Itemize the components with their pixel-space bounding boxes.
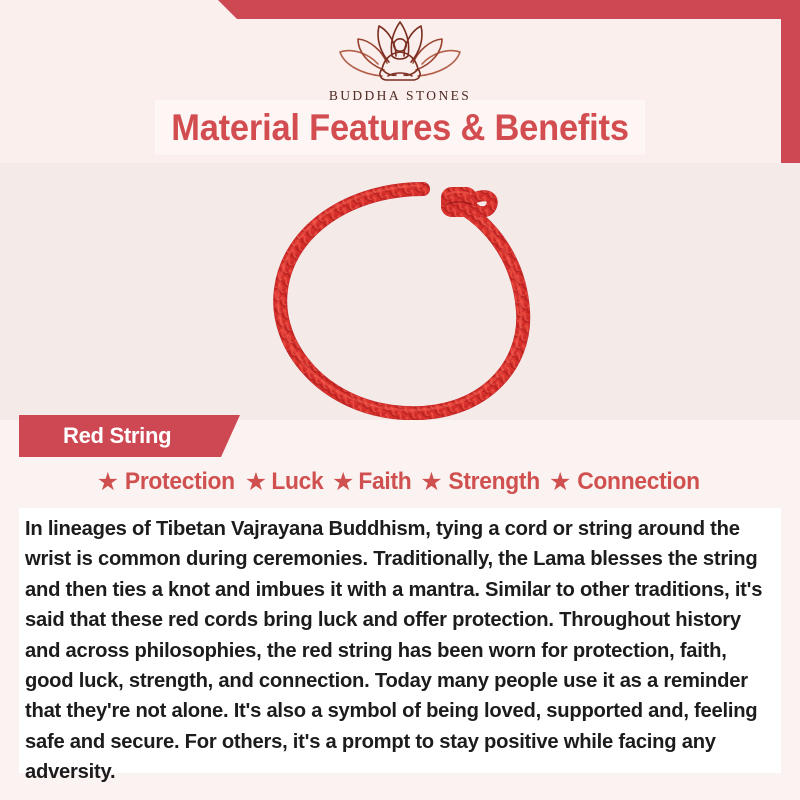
star-icon: ★	[332, 470, 354, 495]
benefit-label: Luck	[272, 468, 324, 496]
benefit-label: Strength	[448, 468, 539, 496]
benefit-item-connection: ★ Connection	[549, 468, 703, 496]
benefit-item-protection: ★ Protection	[97, 468, 238, 496]
lotus-meditation-icon	[326, 18, 474, 86]
benefit-item-faith: ★ Faith	[332, 468, 413, 496]
benefit-label: Faith	[359, 468, 412, 496]
product-tag-label: Red String	[63, 423, 171, 449]
star-icon: ★	[245, 470, 267, 495]
star-icon: ★	[97, 470, 119, 495]
page-title: Material Features & Benefits	[171, 107, 629, 149]
infographic-page: BUDDHA STONES Material Features & Benefi…	[0, 0, 800, 800]
benefit-item-luck: ★ Luck	[245, 468, 325, 496]
product-tag-banner: Red String	[19, 415, 240, 457]
product-photo-band	[0, 163, 800, 420]
benefits-row: ★ Protection ★ Luck ★ Faith ★ Strength ★…	[0, 468, 800, 496]
description-panel: In lineages of Tibetan Vajrayana Buddhis…	[19, 508, 781, 773]
benefit-item-strength: ★ Strength	[420, 468, 542, 496]
decorative-top-bar	[0, 0, 800, 19]
star-icon: ★	[420, 470, 442, 495]
red-braided-string-bracelet-image	[255, 177, 585, 420]
benefit-label: Protection	[125, 468, 235, 496]
benefit-label: Connection	[578, 468, 701, 496]
description-paragraph: In lineages of Tibetan Vajrayana Buddhis…	[25, 514, 764, 788]
star-icon: ★	[549, 470, 571, 495]
title-banner: Material Features & Benefits	[155, 100, 645, 155]
brand-logo: BUDDHA STONES	[0, 18, 800, 104]
